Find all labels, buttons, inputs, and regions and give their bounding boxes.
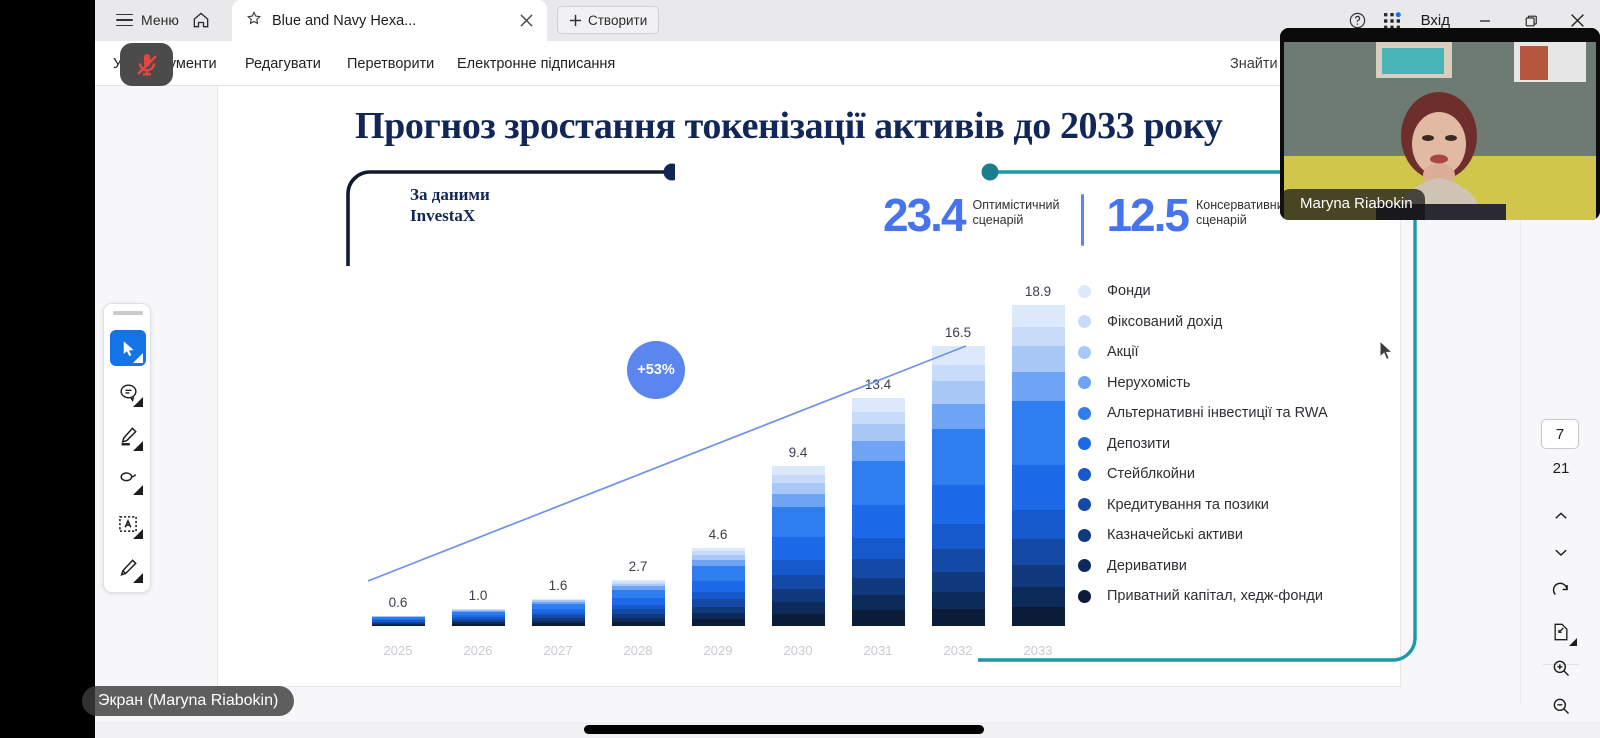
bar-segment <box>612 622 665 626</box>
chevron-down-icon[interactable] <box>133 529 143 539</box>
mouse-cursor <box>1379 340 1395 362</box>
bar-segment <box>1012 587 1065 606</box>
horizontal-scrollbar[interactable] <box>95 722 1600 738</box>
bar-segment <box>612 590 665 598</box>
stacked-bar <box>772 466 825 626</box>
hamburger-icon <box>116 14 133 27</box>
legend-label: Фіксований дохід <box>1107 314 1222 330</box>
current-page-input[interactable]: 7 <box>1541 419 1579 449</box>
bar-segment <box>1012 465 1065 510</box>
source-line-2: InvestaX <box>410 205 490 226</box>
highlight-tool[interactable] <box>110 418 146 454</box>
document-tab[interactable]: Blue and Navy Hexa... <box>232 0 547 41</box>
previous-page-button[interactable] <box>1543 498 1579 534</box>
x-axis-label: 2029 <box>678 643 758 658</box>
total-pages-label: 21 <box>1521 460 1600 477</box>
bar-segment <box>1012 510 1065 539</box>
bar-segment <box>932 404 985 429</box>
x-axis-label: 2031 <box>838 643 918 658</box>
stacked-bar <box>1012 305 1065 626</box>
slide-title: Прогноз зростання токенізації активів до… <box>355 104 1222 148</box>
x-axis-label: 2028 <box>598 643 678 658</box>
zoom-out-button[interactable] <box>1543 688 1579 724</box>
legend-color-dot <box>1078 376 1091 389</box>
bar-segment <box>852 610 905 626</box>
zoom-in-icon <box>1551 658 1571 678</box>
bar-segment <box>1012 372 1065 401</box>
bar-segment <box>772 483 825 494</box>
stacked-bar <box>372 616 425 626</box>
bar-segment <box>852 595 905 610</box>
bar-segment <box>932 485 985 524</box>
bar-column: 1.0 <box>438 256 518 626</box>
bar-column: 4.6 <box>678 256 758 626</box>
stacked-bar <box>852 398 905 626</box>
bar-segment <box>692 619 745 625</box>
chevron-down-icon <box>1552 543 1570 561</box>
new-tab-label: Створити <box>588 13 647 28</box>
bar-segment <box>372 625 425 626</box>
bar-segment <box>772 537 825 560</box>
text-box-tool[interactable] <box>110 506 146 542</box>
legend-item: Казначейські активи <box>1078 520 1328 551</box>
kpi-value: 23.4 <box>883 194 965 238</box>
bar-segment <box>852 424 905 441</box>
chevron-down-icon[interactable] <box>1569 638 1577 646</box>
legend-color-dot <box>1078 498 1091 511</box>
legend-color-dot <box>1078 285 1091 298</box>
select-tool[interactable] <box>110 330 146 366</box>
bar-value-label: 13.4 <box>865 377 891 392</box>
bar-segment <box>772 507 825 538</box>
stacked-bar <box>692 548 745 626</box>
bar-segment <box>772 589 825 602</box>
bar-column: 1.6 <box>518 256 598 626</box>
new-tab-button[interactable]: Створити <box>557 6 659 34</box>
legend-color-dot <box>1078 468 1091 481</box>
kpi-optimistic: 23.4 Оптимістичний сценарій <box>883 194 1059 238</box>
bar-segment <box>772 560 825 575</box>
legend-color-dot <box>1078 407 1091 420</box>
legend-item: Фіксований дохід <box>1078 307 1328 338</box>
x-axis-label: 2033 <box>998 643 1078 658</box>
menu-edit[interactable]: Редагувати <box>235 41 331 86</box>
bar-value-label: 2.7 <box>629 559 648 574</box>
bar-column: 9.4 <box>758 256 838 626</box>
bar-segment <box>772 466 825 475</box>
menu-button[interactable]: Меню <box>108 5 187 35</box>
bar-value-label: 18.9 <box>1025 284 1051 299</box>
bar-column: 2.7 <box>598 256 678 626</box>
bar-segment <box>692 581 745 592</box>
legend-label: Стейблкойни <box>1107 466 1195 482</box>
chevron-up-icon <box>1552 507 1570 525</box>
annotation-tool-rail <box>103 303 151 593</box>
stacked-bar-chart: 0.61.01.62.74.69.413.416.518.9 202520262… <box>358 236 1078 666</box>
legend-item: Нерухомість <box>1078 368 1328 399</box>
legend-color-dot <box>1078 437 1091 450</box>
plus-icon <box>569 14 582 27</box>
bar-segment <box>692 599 745 606</box>
kpi-label-line1: Оптимістичний <box>973 198 1060 212</box>
legend-label: Деривативи <box>1107 558 1187 574</box>
fit-page-icon <box>1551 622 1571 642</box>
legend-item: Альтернативні інвестиції та RWA <box>1078 398 1328 429</box>
draw-tool[interactable] <box>110 462 146 498</box>
bar-segment <box>932 429 985 485</box>
sign-in-button[interactable]: Вхід <box>1409 12 1462 29</box>
bar-segment <box>772 602 825 614</box>
bar-column: 0.6 <box>358 256 438 626</box>
bar-segment <box>852 505 905 537</box>
kpi-value: 12.5 <box>1106 194 1188 238</box>
bar-segment <box>1012 539 1065 565</box>
bar-segment <box>1012 346 1065 372</box>
fit-page-button[interactable] <box>1543 614 1579 650</box>
bar-segment <box>932 524 985 549</box>
legend-label: Приватний капітал, хедж-фонди <box>1107 588 1323 604</box>
kpi-label-line2: сценарій <box>973 213 1024 227</box>
menu-label: Меню <box>141 12 179 28</box>
x-axis-label: 2026 <box>438 643 518 658</box>
chart-x-axis: 202520262027202820292030203120322033 <box>358 643 1078 658</box>
bar-value-label: 1.6 <box>549 578 568 593</box>
screen: Меню Blue and Navy Hexa... Створити <box>0 0 1600 738</box>
bar-segment <box>852 578 905 595</box>
legend-color-dot <box>1078 529 1091 542</box>
stacked-bar <box>932 346 985 627</box>
source-note: За даними InvestaX <box>410 184 490 227</box>
screen-share-indicator[interactable]: Экран (Maryna Riabokin) <box>82 686 294 716</box>
legend-color-dot <box>1078 315 1091 328</box>
kpi-label-line1: Консервативний <box>1196 198 1291 212</box>
chevron-down-icon[interactable] <box>133 353 143 363</box>
bar-segment <box>1012 607 1065 626</box>
x-axis-label: 2032 <box>918 643 998 658</box>
meeting-left-gutter <box>0 0 95 738</box>
bar-segment <box>932 592 985 609</box>
rotate-button[interactable] <box>1543 574 1579 610</box>
bar-segment <box>692 592 745 600</box>
next-page-button[interactable] <box>1543 534 1579 570</box>
horizontal-scrollbar-thumb[interactable] <box>584 725 984 734</box>
growth-badge: +53% <box>627 341 685 399</box>
chevron-down-icon[interactable] <box>133 441 143 451</box>
zoom-out-icon <box>1551 696 1571 716</box>
bar-segment <box>452 624 505 626</box>
zoom-in-button[interactable] <box>1543 650 1579 686</box>
menu-convert[interactable]: Перетворити <box>337 41 444 86</box>
legend-color-dot <box>1078 559 1091 572</box>
bar-segment <box>532 623 585 626</box>
bar-value-label: 1.0 <box>469 588 488 603</box>
kpi-divider <box>1081 194 1084 246</box>
x-axis-label: 2027 <box>518 643 598 658</box>
legend-label: Депозити <box>1107 436 1170 452</box>
bar-column: 18.9 <box>998 256 1078 626</box>
microphone-muted-button[interactable] <box>120 43 173 86</box>
legend-item: Фонди <box>1078 276 1328 307</box>
bar-segment <box>932 572 985 592</box>
bar-segment <box>772 475 825 483</box>
stacked-bar <box>532 599 585 626</box>
bar-segment <box>1012 565 1065 587</box>
tab-title: Blue and Navy Hexa... <box>272 13 515 29</box>
legend-item: Акції <box>1078 337 1328 368</box>
bar-segment <box>692 607 745 614</box>
close-icon[interactable] <box>515 10 537 32</box>
stacked-bar <box>612 580 665 626</box>
legend-label: Казначейські активи <box>1107 527 1243 543</box>
legend-color-dot <box>1078 590 1091 603</box>
legend-label: Альтернативні інвестиції та RWA <box>1107 405 1328 421</box>
bar-segment <box>772 575 825 589</box>
bar-value-label: 16.5 <box>945 325 971 340</box>
bar-column: 13.4 <box>838 256 918 626</box>
legend-label: Кредитування та позики <box>1107 497 1269 513</box>
bar-segment <box>932 609 985 626</box>
legend-label: Фонди <box>1107 283 1151 299</box>
legend-item: Стейблкойни <box>1078 459 1328 490</box>
star-icon[interactable] <box>246 10 262 31</box>
bar-segment <box>772 494 825 507</box>
pdf-page: Прогноз зростання токенізації активів до… <box>218 86 1400 686</box>
legend-item: Депозити <box>1078 429 1328 460</box>
bar-segment <box>1012 305 1065 327</box>
kpi-label-line2: сценарій <box>1196 213 1247 227</box>
bar-value-label: 9.4 <box>789 445 808 460</box>
bar-segment <box>852 461 905 506</box>
legend-label: Нерухомість <box>1107 375 1190 391</box>
stacked-bar <box>452 609 505 626</box>
rail-drag-handle[interactable] <box>113 311 143 315</box>
stamp-tool[interactable] <box>110 550 146 586</box>
chevron-down-icon[interactable] <box>133 397 143 407</box>
comment-tool[interactable] <box>110 374 146 410</box>
bar-segment <box>932 365 985 382</box>
bar-column: 16.5 <box>918 256 998 626</box>
legend-label: Акції <box>1107 344 1139 360</box>
bar-value-label: 4.6 <box>709 527 728 542</box>
legend-color-dot <box>1078 346 1091 359</box>
chevron-down-icon[interactable] <box>133 573 143 583</box>
x-axis-label: 2025 <box>358 643 438 658</box>
bar-segment <box>1012 401 1065 465</box>
legend-item: Приватний капітал, хедж-фонди <box>1078 581 1328 612</box>
bar-segment <box>932 381 985 403</box>
bar-segment <box>1012 327 1065 346</box>
menu-esign[interactable]: Електронне підписання <box>447 41 625 86</box>
microphone-muted-icon <box>133 51 161 79</box>
bar-segment <box>932 549 985 572</box>
bar-segment <box>852 441 905 461</box>
legend-item: Кредитування та позики <box>1078 490 1328 521</box>
chart-legend: ФондиФіксований дохідАкціїНерухомістьАль… <box>1078 276 1328 612</box>
bar-segment <box>772 614 825 626</box>
self-view-video[interactable]: Maryna Riabokin <box>1280 28 1600 220</box>
bar-segment <box>852 412 905 424</box>
self-view-name-label: Maryna Riabokin <box>1280 189 1425 220</box>
legend-item: Деривативи <box>1078 551 1328 582</box>
bar-segment <box>692 566 745 581</box>
kpi-label: Оптимістичний сценарій <box>973 194 1060 229</box>
home-icon[interactable] <box>187 6 215 34</box>
chart-bars: 0.61.01.62.74.69.413.416.518.9 <box>358 256 1078 626</box>
rotate-clockwise-icon <box>1551 582 1571 602</box>
bar-segment <box>932 346 985 365</box>
bar-value-label: 0.6 <box>389 595 408 610</box>
bar-segment <box>852 538 905 559</box>
source-line-1: За даними <box>410 184 490 205</box>
bar-segment <box>852 398 905 412</box>
kpi-label: Консервативний сценарій <box>1196 194 1291 229</box>
bar-segment <box>852 559 905 578</box>
kpi-conservative: 12.5 Консервативний сценарій <box>1106 194 1290 238</box>
x-axis-label: 2030 <box>758 643 838 658</box>
chevron-down-icon[interactable] <box>133 485 143 495</box>
